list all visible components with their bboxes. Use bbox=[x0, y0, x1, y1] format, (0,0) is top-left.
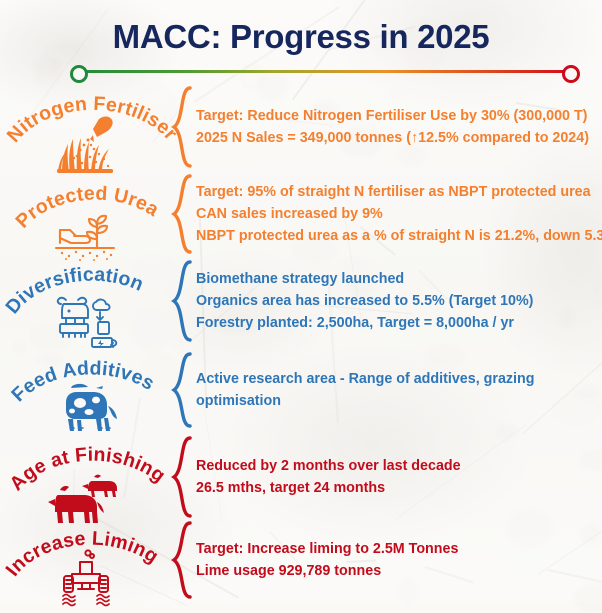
section-badge: Nitrogen Fertiliser bbox=[4, 84, 180, 170]
content-line: Lime usage 929,789 tonnes bbox=[196, 560, 596, 582]
section-diversification: Diversification bbox=[0, 258, 602, 344]
divider-start-dot bbox=[70, 65, 88, 83]
content-line: Organics area has increased to 5.5% (Tar… bbox=[196, 290, 596, 312]
content-line: Target: Reduce Nitrogen Fertiliser Use b… bbox=[196, 105, 596, 127]
section-nitrogen-fertiliser: Nitrogen Fertiliser bbox=[0, 84, 602, 170]
gradient-divider bbox=[70, 65, 580, 79]
section-content: Target: Reduce Nitrogen Fertiliser Use b… bbox=[196, 105, 596, 149]
divider-line bbox=[76, 70, 574, 73]
section-badge: Diversification bbox=[4, 258, 180, 344]
section-content: Target: Increase liming to 2.5M Tonnes L… bbox=[196, 538, 596, 582]
tractor-lime-spreader-icon bbox=[44, 546, 140, 608]
fertiliser-spreading-over-grass-icon bbox=[44, 112, 140, 174]
section-badge: Feed Additives bbox=[4, 348, 180, 432]
hand-sowing-plant-icon bbox=[44, 200, 140, 262]
section-content: Reduced by 2 months over last decade 26.… bbox=[196, 455, 596, 499]
section-brace bbox=[168, 84, 198, 170]
section-badge: Age at Finishing bbox=[4, 434, 180, 520]
section-increase-liming: Increase Liming bbox=[0, 518, 602, 602]
infographic-page: MACC: Progress in 2025 Nitrogen Fertilis… bbox=[0, 0, 602, 602]
section-brace bbox=[168, 518, 198, 602]
content-line: Biomethane strategy launched bbox=[196, 268, 596, 290]
content-line: optimisation bbox=[196, 390, 596, 412]
content-line: 2025 N Sales = 349,000 tonnes (↑12.5% co… bbox=[196, 127, 596, 149]
content-line: NBPT protected urea as a % of straight N… bbox=[196, 225, 596, 247]
section-content: Biomethane strategy launched Organics ar… bbox=[196, 268, 596, 334]
content-line: Target: Increase liming to 2.5M Tonnes bbox=[196, 538, 596, 560]
section-content: Target: 95% of straight N fertiliser as … bbox=[196, 181, 596, 247]
page-title: MACC: Progress in 2025 bbox=[0, 18, 602, 56]
content-line: Forestry planted: 2,500ha, Target = 8,00… bbox=[196, 312, 596, 334]
two-cattle-silhouette-icon bbox=[44, 462, 140, 524]
content-line: CAN sales increased by 9% bbox=[196, 203, 596, 225]
content-line: 26.5 mths, target 24 months bbox=[196, 477, 596, 499]
dairy-cow-grazing-icon bbox=[44, 376, 140, 438]
content-line: Target: 95% of straight N fertiliser as … bbox=[196, 181, 596, 203]
section-protected-urea: Protected Urea bbox=[0, 172, 602, 256]
content-line: Reduced by 2 months over last decade bbox=[196, 455, 596, 477]
section-badge: Protected Urea bbox=[4, 172, 180, 256]
section-badge: Increase Liming bbox=[4, 518, 180, 602]
section-feed-additives: Feed Additives bbox=[0, 348, 602, 432]
section-brace bbox=[168, 258, 198, 344]
section-brace bbox=[168, 434, 198, 520]
section-age-at-finishing: Age at Finishing bbox=[0, 434, 602, 520]
cow-biogas-digester-icon bbox=[44, 286, 140, 348]
content-line: Active research area - Range of additive… bbox=[196, 368, 596, 390]
divider-end-dot bbox=[562, 65, 580, 83]
section-brace bbox=[168, 172, 198, 256]
section-content: Active research area - Range of additive… bbox=[196, 368, 596, 412]
section-brace bbox=[168, 348, 198, 432]
